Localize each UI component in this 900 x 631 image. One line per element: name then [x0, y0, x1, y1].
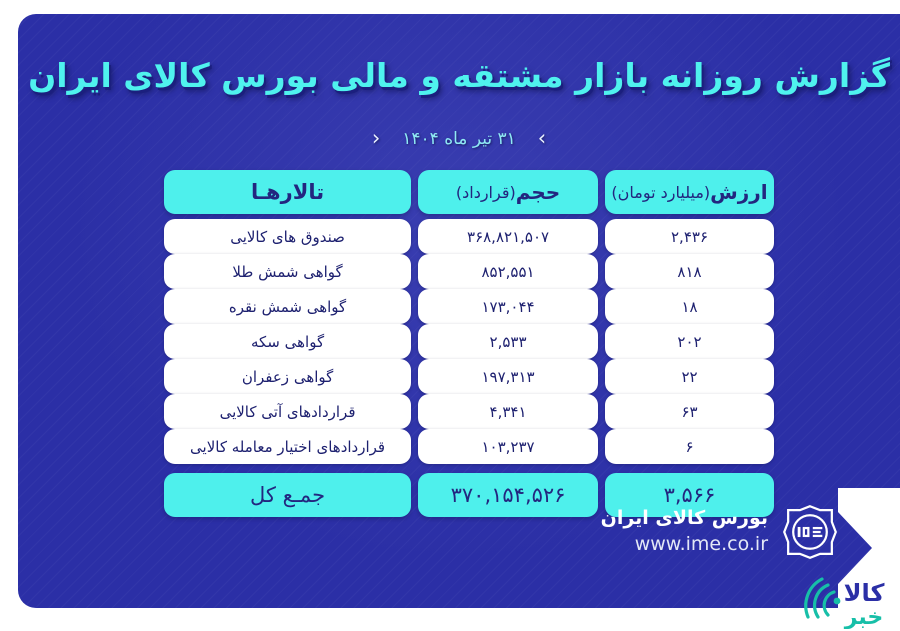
- chevron-left-icon: ‹: [372, 128, 380, 149]
- brand-website[interactable]: www.ime.co.ir: [635, 533, 768, 555]
- column-header-volume: حجم (قرارداد): [418, 170, 598, 214]
- column-header-value-unit: (میلیارد تومان): [611, 183, 710, 202]
- column-header-value: ارزش (میلیارد تومان): [605, 170, 774, 214]
- table-row: ۲۲۱۹۷,۳۱۳گواهی زعفران: [164, 359, 774, 394]
- table-row: ۶۱۰۳,۲۳۷قراردادهای اختیار معامله کالایی: [164, 429, 774, 464]
- brand-text-block: بورس کالای ایران www.ime.co.ir: [601, 506, 768, 557]
- cell-value: ۱۸: [605, 289, 774, 324]
- brand-name: بورس کالای ایران: [601, 507, 768, 529]
- cell-volume: ۳۶۸,۸۲۱,۵۰۷: [418, 219, 598, 254]
- cell-volume: ۱۷۳,۰۴۴: [418, 289, 598, 324]
- cell-value: ۲۰۲: [605, 324, 774, 359]
- cell-name: گواهی سکه: [164, 324, 411, 359]
- ime-logo-icon: [782, 504, 838, 560]
- poster-root: گزارش روزانه بازار مشتقه و مالی بورس کال…: [0, 0, 900, 631]
- column-header-name: تالارهـا: [164, 170, 411, 214]
- kalakhabar-watermark-icon: کالا خبر: [792, 553, 896, 629]
- cell-volume: ۲,۵۳۳: [418, 324, 598, 359]
- cell-value: ۶: [605, 429, 774, 464]
- table-row: ۲,۴۳۶۳۶۸,۸۲۱,۵۰۷صندوق های کالایی: [164, 219, 774, 254]
- cell-name: گواهی زعفران: [164, 359, 411, 394]
- cell-name: قراردادهای آتی کالایی: [164, 394, 411, 429]
- column-header-volume-unit: (قرارداد): [456, 183, 516, 202]
- date-block: › ۳۱ تیر ماه ۱۴۰۴ ‹: [18, 128, 900, 149]
- cell-value: ۶۳: [605, 394, 774, 429]
- cell-volume: ۱۰۳,۲۳۷: [418, 429, 598, 464]
- title-block: گزارش روزانه بازار مشتقه و مالی بورس کال…: [18, 56, 900, 95]
- table-row: ۱۸۱۷۳,۰۴۴گواهی شمش نقره: [164, 289, 774, 324]
- cell-volume: ۴,۳۴۱: [418, 394, 598, 429]
- watermark-word-bottom: خبر: [844, 605, 884, 629]
- cell-value: ۲,۴۳۶: [605, 219, 774, 254]
- report-date: ۳۱ تیر ماه ۱۴۰۴: [402, 129, 515, 149]
- cell-volume: ۱۹۷,۳۱۳: [418, 359, 598, 394]
- column-header-volume-strong: حجم: [516, 180, 561, 204]
- cell-name: گواهی شمش نقره: [164, 289, 411, 324]
- report-card: گزارش روزانه بازار مشتقه و مالی بورس کال…: [18, 14, 900, 608]
- total-volume: ۳۷۰,۱۵۴,۵۲۶: [418, 473, 598, 517]
- chevron-right-icon: ›: [538, 128, 546, 149]
- total-label: جمـع کل: [164, 473, 411, 517]
- cell-volume: ۸۵۲,۵۵۱: [418, 254, 598, 289]
- cell-name: قراردادهای اختیار معامله کالایی: [164, 429, 411, 464]
- page-title: گزارش روزانه بازار مشتقه و مالی بورس کال…: [28, 56, 890, 95]
- column-header-value-strong: ارزش: [710, 180, 767, 204]
- table-row: ۶۳۴,۳۴۱قراردادهای آتی کالایی: [164, 394, 774, 429]
- table-row: ۲۰۲۲,۵۳۳گواهی سکه: [164, 324, 774, 359]
- cell-value: ۲۲: [605, 359, 774, 394]
- table-header-row: ارزش (میلیارد تومان) حجم (قرارداد) تالار…: [164, 170, 774, 214]
- cell-name: صندوق های کالایی: [164, 219, 411, 254]
- footer-brand: بورس کالای ایران www.ime.co.ir: [601, 504, 838, 560]
- table-body: ۲,۴۳۶۳۶۸,۸۲۱,۵۰۷صندوق های کالایی۸۱۸۸۵۲,۵…: [164, 219, 774, 464]
- summary-table: ارزش (میلیارد تومان) حجم (قرارداد) تالار…: [164, 170, 774, 517]
- table-row: ۸۱۸۸۵۲,۵۵۱گواهی شمش طلا: [164, 254, 774, 289]
- cell-name: گواهی شمش طلا: [164, 254, 411, 289]
- watermark-word-top: کالا: [844, 579, 885, 607]
- cell-value: ۸۱۸: [605, 254, 774, 289]
